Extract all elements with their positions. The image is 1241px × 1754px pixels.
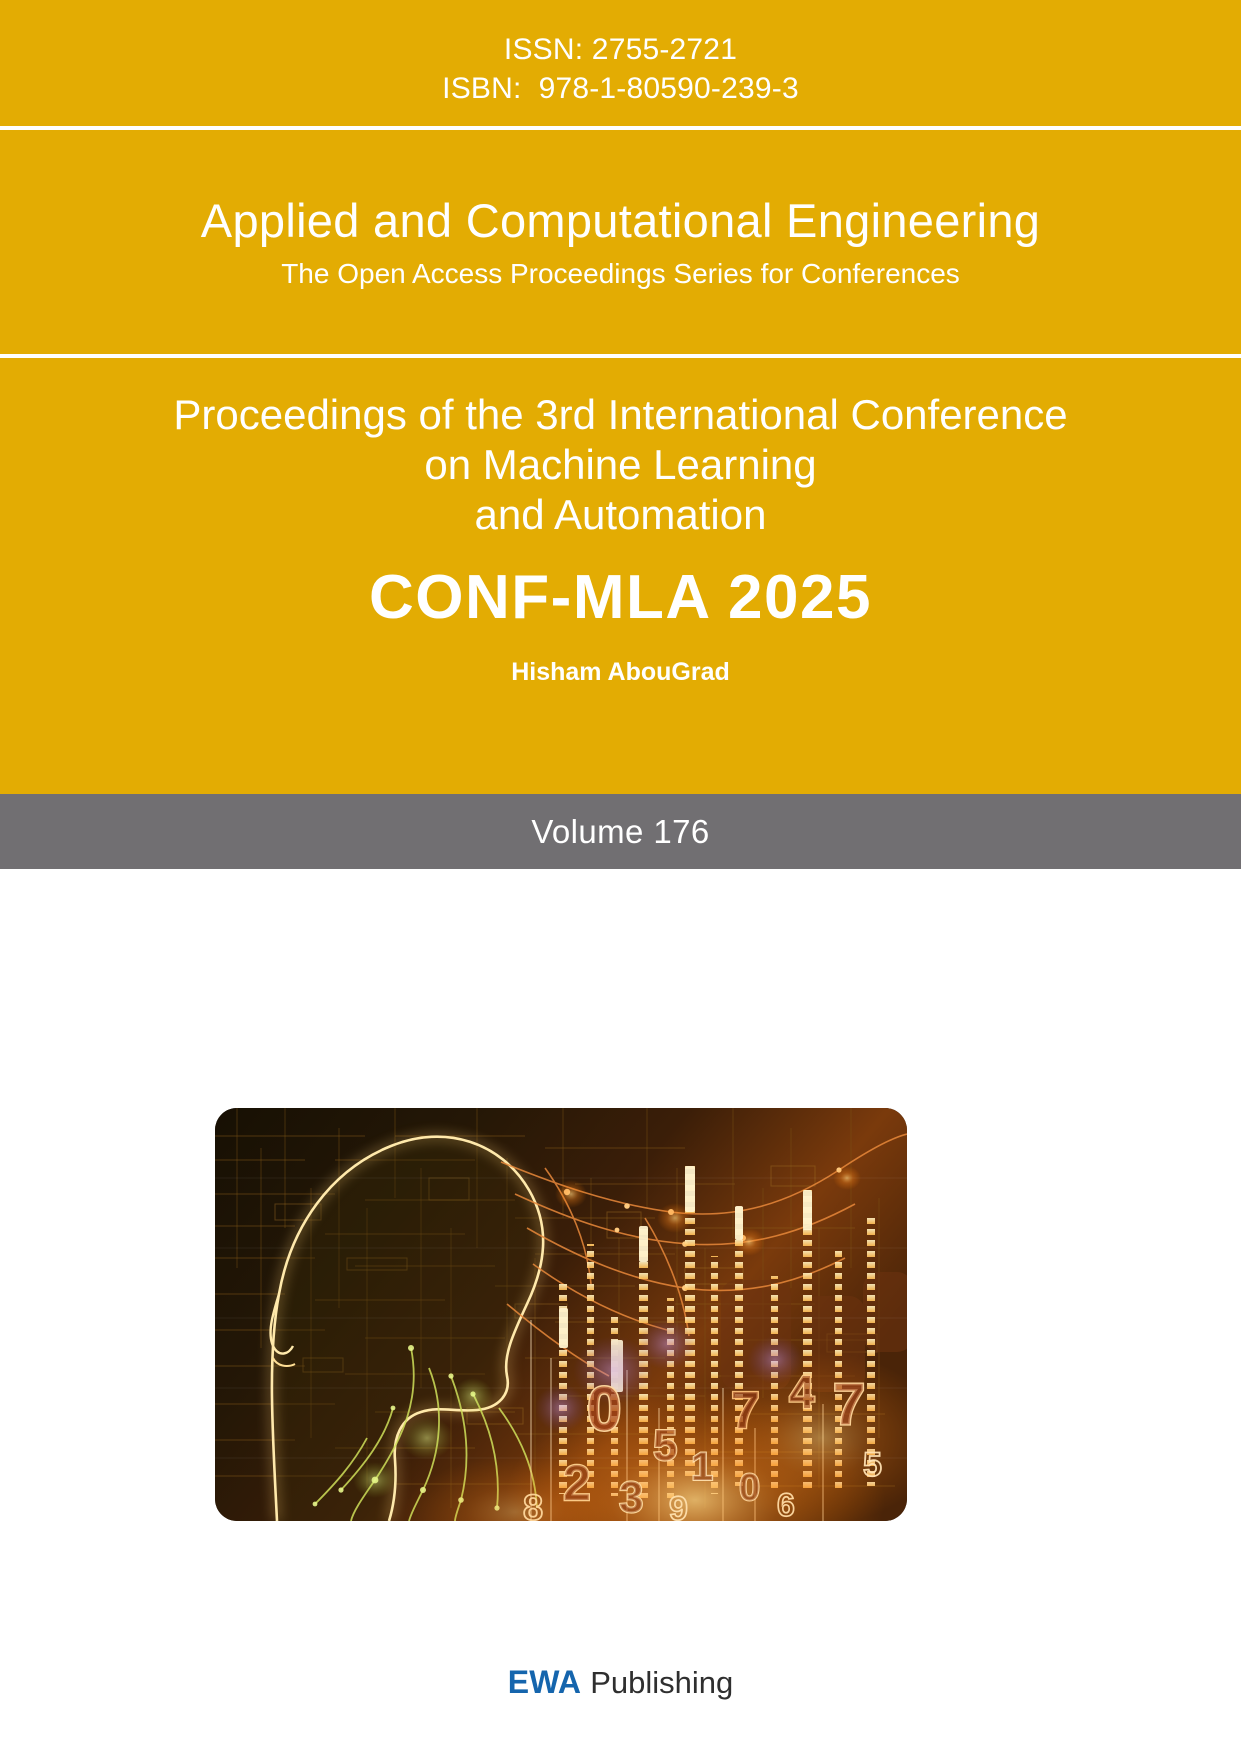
conference-title-line-3: and Automation bbox=[475, 490, 767, 540]
isbn-text: ISBN: 978-1-80590-239-3 bbox=[442, 69, 799, 108]
artwork-svg: 0 0 7 7 4 4 7 7 5 5 1 1 2 2 3 3 bbox=[215, 1108, 907, 1521]
svg-text:5: 5 bbox=[863, 1446, 882, 1484]
cover-header-gold-area: ISSN: 2755-2721 ISBN: 978-1-80590-239-3 … bbox=[0, 0, 1241, 794]
svg-text:3: 3 bbox=[619, 1473, 643, 1521]
journal-title: Applied and Computational Engineering bbox=[201, 192, 1040, 250]
svg-text:1: 1 bbox=[691, 1445, 713, 1489]
conference-title-line-1: Proceedings of the 3rd International Con… bbox=[173, 390, 1067, 440]
identifier-band: ISSN: 2755-2721 ISBN: 978-1-80590-239-3 bbox=[0, 0, 1241, 126]
publisher-brand-text: EWA bbox=[508, 1664, 582, 1701]
publisher-logo: EWA Publishing bbox=[0, 1664, 1241, 1701]
cover-artwork-wrapper: 0 0 7 7 4 4 7 7 5 5 1 1 2 2 3 3 bbox=[215, 1108, 907, 1521]
journal-subtitle: The Open Access Proceedings Series for C… bbox=[281, 256, 960, 292]
journal-band: Applied and Computational Engineering Th… bbox=[0, 130, 1241, 354]
svg-text:0: 0 bbox=[739, 1467, 760, 1509]
editor-name: Hisham AbouGrad bbox=[511, 656, 730, 688]
conference-band: Proceedings of the 3rd International Con… bbox=[0, 358, 1241, 794]
svg-text:8: 8 bbox=[523, 1487, 543, 1521]
volume-label: Volume 176 bbox=[531, 813, 709, 851]
svg-text:4: 4 bbox=[789, 1366, 815, 1418]
svg-text:6: 6 bbox=[777, 1487, 795, 1521]
svg-text:7: 7 bbox=[833, 1372, 865, 1437]
publisher-word-text: Publishing bbox=[590, 1665, 733, 1701]
cover-artwork-image: 0 0 7 7 4 4 7 7 5 5 1 1 2 2 3 3 bbox=[215, 1108, 907, 1521]
svg-text:0: 0 bbox=[587, 1375, 621, 1444]
conference-title-line-2: on Machine Learning bbox=[424, 440, 816, 490]
svg-text:5: 5 bbox=[653, 1421, 677, 1470]
svg-text:2: 2 bbox=[563, 1455, 591, 1511]
conference-acronym: CONF-MLA 2025 bbox=[369, 562, 872, 634]
svg-text:7: 7 bbox=[731, 1382, 760, 1440]
svg-text:9: 9 bbox=[669, 1490, 688, 1521]
cover-lower-white-area: 0 0 7 7 4 4 7 7 5 5 1 1 2 2 3 3 bbox=[0, 869, 1241, 1746]
issn-text: ISSN: 2755-2721 bbox=[504, 30, 737, 69]
volume-band: Volume 176 bbox=[0, 794, 1241, 869]
